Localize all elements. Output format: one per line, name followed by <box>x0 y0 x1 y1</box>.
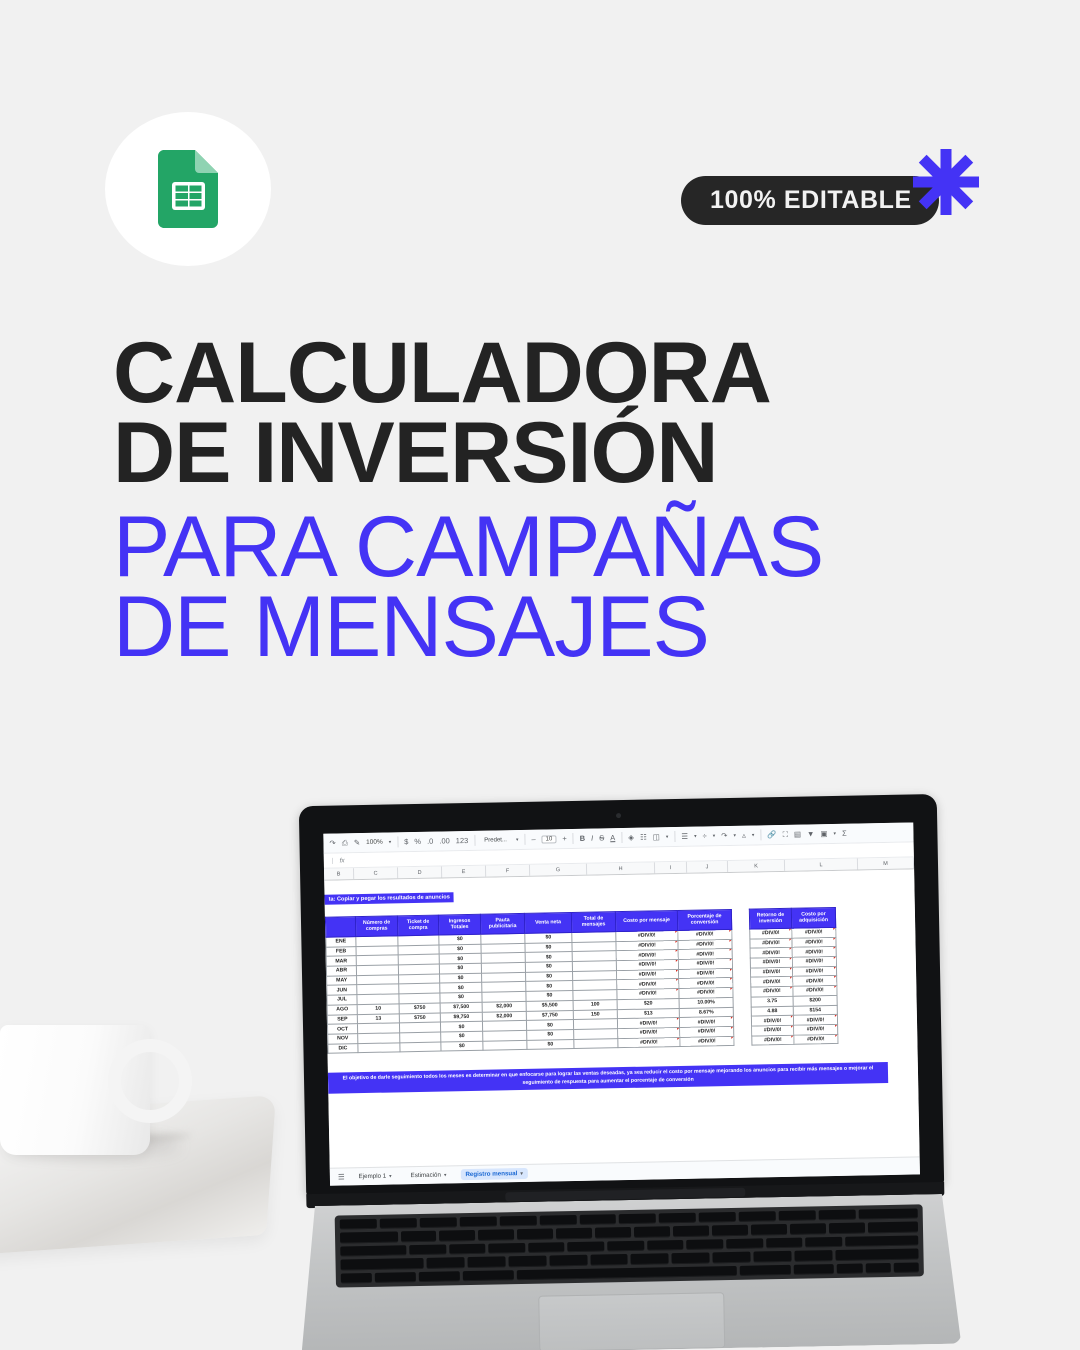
keyboard-key <box>805 1237 842 1248</box>
keyboard-key <box>539 1215 576 1226</box>
table-cell[interactable] <box>574 1038 618 1049</box>
col-header-6: Total de mensajes <box>571 912 615 933</box>
keyboard-key <box>468 1257 506 1268</box>
row-month-label[interactable]: FEB <box>326 946 356 956</box>
keyboard-key <box>340 1232 398 1244</box>
keyboard-key <box>409 1244 446 1255</box>
table-row[interactable]: #DIV/0!#DIV/0! <box>751 986 837 997</box>
coffee-mug <box>0 1025 150 1155</box>
vertical-align-icon[interactable]: ÷ <box>703 832 707 840</box>
table-row[interactable]: #DIV/0!#DIV/0! <box>752 1034 838 1045</box>
number-format-icon[interactable]: 123 <box>456 837 469 845</box>
keyboard-key <box>631 1253 669 1264</box>
asterisk-icon-svg <box>909 145 983 219</box>
webcam-icon <box>615 813 620 818</box>
row-month-label[interactable]: JUN <box>327 985 357 995</box>
editable-badge-label: 100% EDITABLE <box>710 186 912 215</box>
table-cell[interactable]: #DIV/0! <box>752 1035 794 1045</box>
keyboard-key <box>751 1224 787 1235</box>
asterisk-icon <box>909 145 983 219</box>
keyboard-key <box>672 1253 710 1264</box>
row-month-label[interactable]: NOV <box>328 1034 358 1044</box>
keyboard-key <box>400 1231 436 1242</box>
keyboard-key <box>868 1222 919 1233</box>
column-header-f[interactable]: F <box>486 865 530 877</box>
formula-divider: | <box>332 857 334 864</box>
keyboard-key <box>499 1216 536 1227</box>
keyboard-key <box>556 1228 592 1239</box>
headline-line-4: DE MENSAJES <box>113 588 953 668</box>
col-header-7: Costo por mensaje <box>615 910 677 931</box>
keyboard-key <box>508 1256 546 1267</box>
table-cell[interactable]: #DIV/0! <box>794 1034 838 1045</box>
laptop-screen: ↷ ⎙ ✎ 100% ▾ $ % .0 .00 123 Predet... ▾ <box>323 822 920 1185</box>
keyboard-key <box>340 1219 377 1230</box>
table-cell[interactable] <box>400 1042 441 1052</box>
keyboard-key <box>835 1249 918 1261</box>
strikethrough-icon[interactable]: S <box>599 834 604 842</box>
side-col-header-1: Costo por adquisición <box>791 907 835 928</box>
font-size-input[interactable]: 10 <box>542 835 557 843</box>
keyboard-key <box>459 1217 496 1228</box>
text-rotation-icon[interactable]: ▵ <box>742 831 746 839</box>
table-cell[interactable]: #DIV/0! <box>751 986 793 996</box>
spreadsheet-grid[interactable]: ta: Copiar y pegar los resultados de anu… <box>324 869 919 1167</box>
fx-icon: fx <box>339 857 344 864</box>
insert-comment-icon[interactable]: ⛶ <box>783 831 788 839</box>
percent-format-icon[interactable]: % <box>414 838 421 846</box>
keyboard-key <box>517 1229 553 1240</box>
column-header-l[interactable]: L <box>785 859 858 871</box>
keyboard-key <box>819 1210 856 1221</box>
column-header-g[interactable]: G <box>530 864 587 876</box>
keyboard-key <box>766 1237 803 1248</box>
table-cell[interactable]: #DIV/0! <box>618 1037 680 1048</box>
print-icon[interactable]: ⎙ <box>342 839 348 847</box>
sheet-tabs-list[interactable]: Ejemplo 1▾Estimación▾Registro mensual▾ <box>354 1168 528 1182</box>
table-cell[interactable] <box>483 1040 527 1051</box>
col-header-3: Ingresos Totales <box>438 914 480 935</box>
font-size-decrease-button[interactable]: – <box>531 835 535 843</box>
keyboard-key <box>419 1271 460 1282</box>
row-month-label[interactable]: ABR <box>326 966 356 976</box>
column-header-c[interactable]: C <box>354 867 398 879</box>
headline-line-2: DE INVERSIÓN <box>113 414 953 494</box>
keyboard-key <box>488 1243 525 1254</box>
keyboard-key <box>619 1213 656 1224</box>
toolbar-divider <box>474 835 475 846</box>
note-top-banner: ta: Copiar y pegar los resultados de anu… <box>324 892 453 904</box>
sheet-tab-ejemplo-1[interactable]: Ejemplo 1▾ <box>354 1170 397 1182</box>
sheet-tab-label: Registro mensual <box>465 1170 517 1178</box>
column-header-h[interactable]: H <box>587 862 655 874</box>
keyboard-key <box>439 1230 475 1241</box>
keyboard-key <box>478 1230 514 1241</box>
decimal-increase-icon[interactable]: .00 <box>439 837 450 845</box>
decimal-decrease-icon[interactable]: .0 <box>427 837 433 845</box>
keyboard-key <box>859 1208 918 1220</box>
toolbar-divider <box>573 833 574 844</box>
column-header-b[interactable]: B <box>324 868 354 880</box>
side-table-body[interactable]: #DIV/0!#DIV/0!#DIV/0!#DIV/0!#DIV/0!#DIV/… <box>750 927 838 1045</box>
keyboard-key <box>427 1257 465 1268</box>
table-cell[interactable]: #DIV/0! <box>679 988 733 999</box>
font-name-select[interactable]: Predet... <box>481 836 510 845</box>
keyboard-key <box>607 1241 644 1252</box>
keyboard-key <box>699 1212 736 1223</box>
table-cell[interactable]: #DIV/0! <box>617 989 679 1000</box>
merge-cells-icon[interactable]: ◫ <box>653 833 660 841</box>
row-month-label[interactable]: MAR <box>326 956 356 966</box>
zoom-chevron-down-icon[interactable]: ▾ <box>389 839 392 845</box>
main-data-table[interactable]: Número de comprasTicket de compraIngreso… <box>325 909 735 1054</box>
keyboard-key <box>340 1245 406 1257</box>
column-header-i[interactable]: I <box>655 862 687 874</box>
currency-format-icon[interactable]: $ <box>404 838 408 846</box>
column-header-d[interactable]: D <box>398 866 442 878</box>
borders-icon[interactable]: ☷ <box>640 833 647 841</box>
keyboard-key <box>647 1240 684 1251</box>
column-header-j[interactable]: J <box>687 861 728 873</box>
keyboard-key <box>739 1211 776 1222</box>
keyboard-key <box>579 1214 616 1225</box>
keyboard-key <box>845 1235 918 1247</box>
halign-chevron-down-icon[interactable]: ▾ <box>694 833 697 839</box>
keyboard-key <box>753 1251 791 1262</box>
headline-block: CALCULADORA DE INVERSIÓN PARA CAMPAÑAS D… <box>113 334 953 668</box>
col-header-0 <box>325 917 355 938</box>
laptop: ↷ ⎙ ✎ 100% ▾ $ % .0 .00 123 Predet... ▾ <box>291 794 961 1350</box>
row-month-label[interactable]: OCT <box>327 1024 357 1034</box>
font-size-increase-button[interactable]: + <box>562 835 567 843</box>
main-table-body[interactable]: ENE$0$0#DIV/0!#DIV/0!FEB$0$0#DIV/0!#DIV/… <box>326 929 734 1053</box>
keyboard-key <box>779 1210 816 1221</box>
keyboard-key <box>790 1224 826 1235</box>
row-month-label[interactable]: DIC <box>328 1043 358 1053</box>
sheet-tab-label: Estimación <box>411 1172 441 1180</box>
toolbar-divider <box>621 832 622 843</box>
laptop-base <box>298 1194 961 1350</box>
keyboard-key <box>590 1254 628 1265</box>
sheet-tab-registro-mensual[interactable]: Registro mensual▾ <box>460 1168 528 1180</box>
keyboard-key <box>420 1217 457 1228</box>
keyboard-key <box>375 1272 416 1283</box>
insert-link-icon[interactable]: 🔗 <box>767 831 776 839</box>
keyboard-key <box>829 1223 865 1234</box>
keyboard-key <box>712 1225 748 1236</box>
keyboard-key <box>793 1264 834 1275</box>
valign-chevron-down-icon[interactable]: ▾ <box>713 833 716 839</box>
keyboard-key <box>893 1262 918 1273</box>
row-month-label[interactable]: MAY <box>327 975 357 985</box>
insert-chart-icon[interactable]: ▤ <box>794 830 801 838</box>
bold-icon[interactable]: B <box>580 834 586 842</box>
sheet-tab-estimación[interactable]: Estimación▾ <box>406 1169 452 1181</box>
sheets-logo-badge <box>105 112 271 266</box>
toolbar-divider <box>760 829 761 840</box>
col-header-2: Ticket de compra <box>397 915 438 936</box>
keyboard-key <box>673 1226 709 1237</box>
keyboard-key <box>549 1255 587 1266</box>
col-header-8: Porcentaje de conversión <box>677 909 731 930</box>
chevron-down-icon[interactable]: ▾ <box>444 1172 447 1178</box>
laptop-trackpad <box>538 1292 725 1350</box>
keyboard-key <box>837 1263 862 1274</box>
all-sheets-icon[interactable]: ☰ <box>338 1173 345 1181</box>
functions-chevron-down-icon[interactable]: ▾ <box>833 830 836 836</box>
toolbar-divider <box>524 834 525 845</box>
sheet-tab-label: Ejemplo 1 <box>359 1173 387 1181</box>
sheets-icon-svg <box>158 150 218 228</box>
row-month-label[interactable]: ENE <box>326 937 356 947</box>
editable-badge: 100% EDITABLE <box>681 176 939 225</box>
chevron-down-icon[interactable]: ▾ <box>389 1173 392 1179</box>
row-month-label[interactable]: SEP <box>327 1014 357 1024</box>
google-sheets-icon <box>158 150 218 228</box>
table-cell[interactable]: #DIV/0! <box>680 1036 734 1047</box>
keyboard-key <box>686 1239 723 1250</box>
table-cell[interactable] <box>358 1042 400 1052</box>
merge-chevron-down-icon[interactable]: ▾ <box>666 834 669 840</box>
row-month-label[interactable]: JUL <box>327 995 357 1005</box>
font-chevron-down-icon[interactable]: ▾ <box>516 837 519 843</box>
col-header-4: Pauta publicitaria <box>480 913 524 934</box>
keyboard-key <box>341 1273 373 1284</box>
paint-format-icon[interactable]: ✎ <box>354 839 360 847</box>
wrap-chevron-down-icon[interactable]: ▾ <box>733 832 736 838</box>
keyboard-key <box>463 1270 514 1281</box>
redo-icon[interactable]: ↷ <box>329 839 335 847</box>
side-table-header-row: Retorno de inversiónCosto por adquisició… <box>749 907 835 929</box>
table-cell[interactable]: #DIV/0! <box>793 986 837 997</box>
functions-icon[interactable]: ▣ <box>820 830 827 838</box>
italic-icon[interactable]: I <box>591 834 593 842</box>
table-cell[interactable]: $0 <box>527 1039 574 1050</box>
toolbar-divider <box>674 831 675 842</box>
keyboard-key <box>380 1218 417 1229</box>
laptop-lid: ↷ ⎙ ✎ 100% ▾ $ % .0 .00 123 Predet... ▾ <box>299 794 944 1196</box>
headline-line-3: PARA CAMPAÑAS <box>113 508 953 588</box>
keyboard-key <box>568 1241 605 1252</box>
laptop-keyboard <box>335 1204 924 1287</box>
row-month-label[interactable]: AGO <box>327 1004 357 1014</box>
keyboard-key <box>340 1258 423 1270</box>
zoom-level[interactable]: 100% <box>366 839 383 846</box>
keyboard-key <box>516 1266 737 1281</box>
sigma-icon[interactable]: Σ <box>842 829 847 837</box>
keyboard-key <box>595 1227 631 1238</box>
column-header-k[interactable]: K <box>728 860 785 872</box>
keyboard-key <box>449 1244 486 1255</box>
text-color-icon[interactable]: A <box>610 834 615 842</box>
filter-icon[interactable]: ▼ <box>807 830 815 838</box>
col-header-5: Venta neta <box>524 913 571 934</box>
fill-color-icon[interactable]: ◈ <box>628 834 634 842</box>
keyboard-key <box>659 1213 696 1224</box>
headline-line-1: CALCULADORA <box>113 334 953 414</box>
promo-graphic: 100% EDITABLE CALCULADORA DE INVERSIÓN P… <box>0 0 1080 1350</box>
toolbar-divider <box>397 836 398 847</box>
keyboard-key <box>528 1242 565 1253</box>
column-header-e[interactable]: E <box>442 866 486 878</box>
note-bottom-banner: El objetivo de darle seguimiento todos l… <box>328 1062 888 1094</box>
laptop-photo-scene: ↷ ⎙ ✎ 100% ▾ $ % .0 .00 123 Predet... ▾ <box>0 780 1080 1350</box>
keyboard-key <box>713 1252 751 1263</box>
side-col-header-0: Retorno de inversión <box>749 908 791 929</box>
column-header-m[interactable]: M <box>858 857 914 869</box>
text-wrap-icon[interactable]: ↷ <box>721 832 727 840</box>
horizontal-align-icon[interactable]: ☰ <box>681 833 688 841</box>
keyboard-key <box>726 1238 763 1249</box>
chevron-down-icon[interactable]: ▾ <box>520 1170 523 1176</box>
col-header-1: Número de compras <box>355 916 397 937</box>
table-cell[interactable]: $0 <box>441 1041 483 1051</box>
keyboard-key <box>634 1227 670 1238</box>
side-data-table[interactable]: Retorno de inversiónCosto por adquisició… <box>749 907 839 1046</box>
tables-wrapper: Número de comprasTicket de compraIngreso… <box>325 907 839 1054</box>
keyboard-key <box>740 1265 791 1276</box>
rotation-chevron-down-icon[interactable]: ▾ <box>752 832 755 838</box>
keyboard-key <box>865 1263 890 1274</box>
keyboard-key <box>794 1250 832 1261</box>
